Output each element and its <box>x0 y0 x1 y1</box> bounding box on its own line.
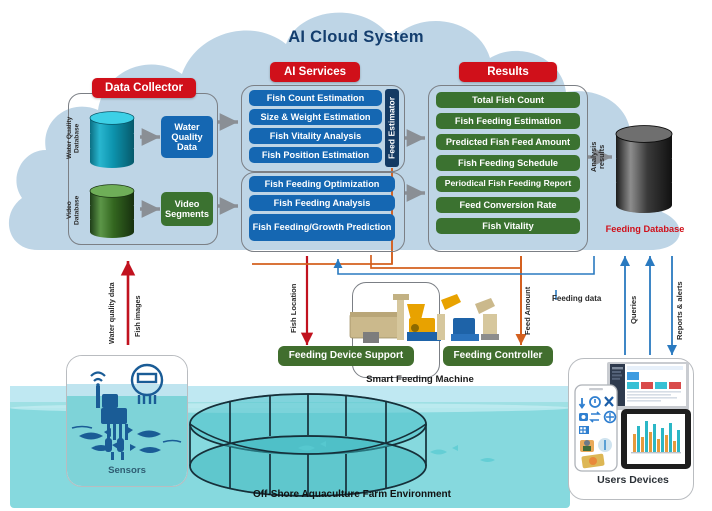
water-quality-data-label: Water Quality Data <box>163 122 211 153</box>
analysis-results-label: Analysis results <box>590 128 610 186</box>
water-quality-data-flow-label: Water quality data <box>108 276 122 350</box>
water-quality-data-box: Water Quality Data <box>161 116 213 158</box>
result-periodical-fish-feeding-report: Periodical Fish Feeding Report <box>436 176 580 192</box>
ai-service-fish-feeding-analysis: Fish Feeding Analysis <box>249 195 395 211</box>
feeding-data-flow-label: Feeding data <box>552 294 601 303</box>
results-pill: Results <box>459 62 557 82</box>
chip-label: Fish Feeding Analysis <box>274 198 371 208</box>
database-cylinder-icon <box>86 183 138 239</box>
video-segments-label: Video Segments <box>163 199 211 220</box>
feeding-device-support-box: Feeding Device Support <box>278 346 414 366</box>
feeding-database-label: Feeding Database <box>605 224 685 234</box>
water-quality-database-label: Water Quality Database <box>66 110 82 166</box>
reports-alerts-flow-label: Reports & alerts <box>676 276 690 346</box>
ai-service-fish-feeding-optimization: Fish Feeding Optimization <box>249 176 395 192</box>
chip-label: Feed Conversion Rate <box>459 200 556 210</box>
data-collector-pill: Data Collector <box>92 78 196 98</box>
video-segments-box: Video Segments <box>161 192 213 226</box>
chip-label: Size & Weight Estimation <box>260 112 370 122</box>
result-total-fish-count: Total Fish Count <box>436 92 580 108</box>
database-cylinder-icon <box>86 110 138 168</box>
users-devices-caption: Users Devices <box>586 474 680 486</box>
chip-label: Fish Count Estimation <box>267 93 365 103</box>
result-fish-vitality: Fish Vitality <box>436 218 580 234</box>
chip-label: Periodical Fish Feeding Report <box>445 179 572 189</box>
queries-flow-label: Queries <box>630 286 644 334</box>
feeding-controller-label: Feeding Controller <box>454 350 543 361</box>
chip-label: Fish Feeding/Growth Prediction <box>253 222 392 232</box>
ai-services-label: AI Services <box>284 66 346 78</box>
ai-service-fish-position-estimation: Fish Position Estimation <box>249 147 382 163</box>
result-feed-conversion-rate: Feed Conversion Rate <box>436 197 580 213</box>
feeding-device-support-label: Feeding Device Support <box>289 350 403 361</box>
fish-location-flow-label: Fish Location <box>290 276 304 340</box>
result-predicted-fish-feed-amount: Predicted Fish Feed Amount <box>436 134 580 150</box>
feed-amount-flow-label: Feed Amount <box>524 282 538 340</box>
results-label: Results <box>487 66 529 78</box>
chip-label: Fish Position Estimation <box>262 150 369 160</box>
tablet-icon <box>620 408 692 470</box>
feeding-controller-box: Feeding Controller <box>443 346 553 366</box>
chip-label: Fish Feeding Schedule <box>458 158 558 168</box>
farm-environment-caption: Off-Shore Aquaculture Farm Environment <box>253 489 451 500</box>
diagram-canvas: AI Cloud System <box>0 0 712 511</box>
smart-feeding-machine-caption: Smart Feeding Machine <box>330 374 510 385</box>
video-database-label: Video Database <box>66 188 82 232</box>
chip-label: Fish Vitality Analysis <box>270 131 361 141</box>
feed-estimator-label: Feed Estimator <box>385 89 399 167</box>
ai-service-fish-feeding-growth-prediction: Fish Feeding/Growth Prediction <box>249 214 395 241</box>
fish-images-flow-label: Fish images <box>134 286 148 346</box>
ai-service-fish-vitality-analysis: Fish Vitality Analysis <box>249 128 382 144</box>
chip-label: Fish Vitality <box>482 221 533 231</box>
page-title: AI Cloud System <box>0 28 712 47</box>
ai-services-pill: AI Services <box>270 62 360 82</box>
chip-label: Total Fish Count <box>472 95 544 105</box>
chip-label: Fish Feeding Optimization <box>265 179 380 189</box>
result-fish-feeding-estimation: Fish Feeding Estimation <box>436 113 580 129</box>
ai-service-size-weight-estimation: Size & Weight Estimation <box>249 109 382 125</box>
chip-label: Fish Feeding Estimation <box>455 116 561 126</box>
database-cylinder-icon <box>613 124 675 220</box>
ai-service-fish-count-estimation: Fish Count Estimation <box>249 90 382 106</box>
smartphone-icon <box>574 384 618 472</box>
sensors-caption: Sensors <box>78 465 176 476</box>
result-fish-feeding-schedule: Fish Feeding Schedule <box>436 155 580 171</box>
data-collector-label: Data Collector <box>105 82 183 94</box>
feed-machine-icon <box>345 284 500 346</box>
chip-label: Predicted Fish Feed Amount <box>446 137 570 147</box>
